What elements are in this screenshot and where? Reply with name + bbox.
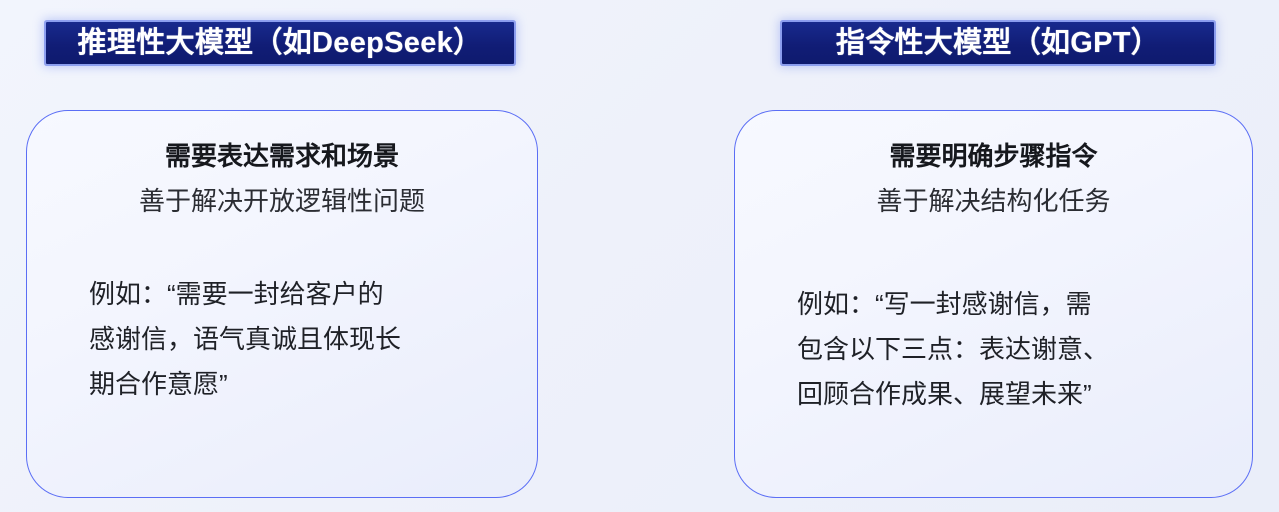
badge-label-instruction: 指令性大模型（如GPT） bbox=[836, 29, 1160, 58]
badge-header-reasoning: 推理性大模型（如DeepSeek） bbox=[46, 22, 514, 64]
card-example-instruction: 例如：“写一封感谢信，需 包含以下三点：表达谢意、 回顾合作成果、展望未来” bbox=[797, 282, 1226, 417]
card-reasoning: 需要表达需求和场景 善于解决开放逻辑性问题 例如：“需要一封给客户的 感谢信，语… bbox=[26, 110, 538, 498]
card-heading-instruction: 需要明确步骤指令 bbox=[735, 142, 1252, 172]
card-body-reasoning: 需要表达需求和场景 善于解决开放逻辑性问题 例如：“需要一封给客户的 感谢信，语… bbox=[27, 111, 537, 497]
slide-canvas: 推理性大模型（如DeepSeek） 需要表达需求和场景 善于解决开放逻辑性问题 … bbox=[0, 0, 1279, 512]
card-subheading-instruction: 善于解决结构化任务 bbox=[735, 187, 1252, 217]
card-subheading-reasoning: 善于解决开放逻辑性问题 bbox=[27, 187, 537, 217]
card-example-reasoning: 例如：“需要一封给客户的 感谢信，语气真诚且体现长 期合作意愿” bbox=[89, 272, 507, 407]
badge-header-instruction: 指令性大模型（如GPT） bbox=[782, 22, 1214, 64]
badge-pill-reasoning: 推理性大模型（如DeepSeek） bbox=[46, 22, 514, 64]
comparison-column-reasoning: 推理性大模型（如DeepSeek） 需要表达需求和场景 善于解决开放逻辑性问题 … bbox=[0, 0, 560, 512]
card-body-instruction: 需要明确步骤指令 善于解决结构化任务 例如：“写一封感谢信，需 包含以下三点：表… bbox=[735, 111, 1252, 497]
card-instruction: 需要明确步骤指令 善于解决结构化任务 例如：“写一封感谢信，需 包含以下三点：表… bbox=[734, 110, 1253, 498]
card-heading-reasoning: 需要表达需求和场景 bbox=[27, 142, 537, 172]
badge-pill-instruction: 指令性大模型（如GPT） bbox=[782, 22, 1214, 64]
badge-label-reasoning: 推理性大模型（如DeepSeek） bbox=[78, 29, 483, 58]
